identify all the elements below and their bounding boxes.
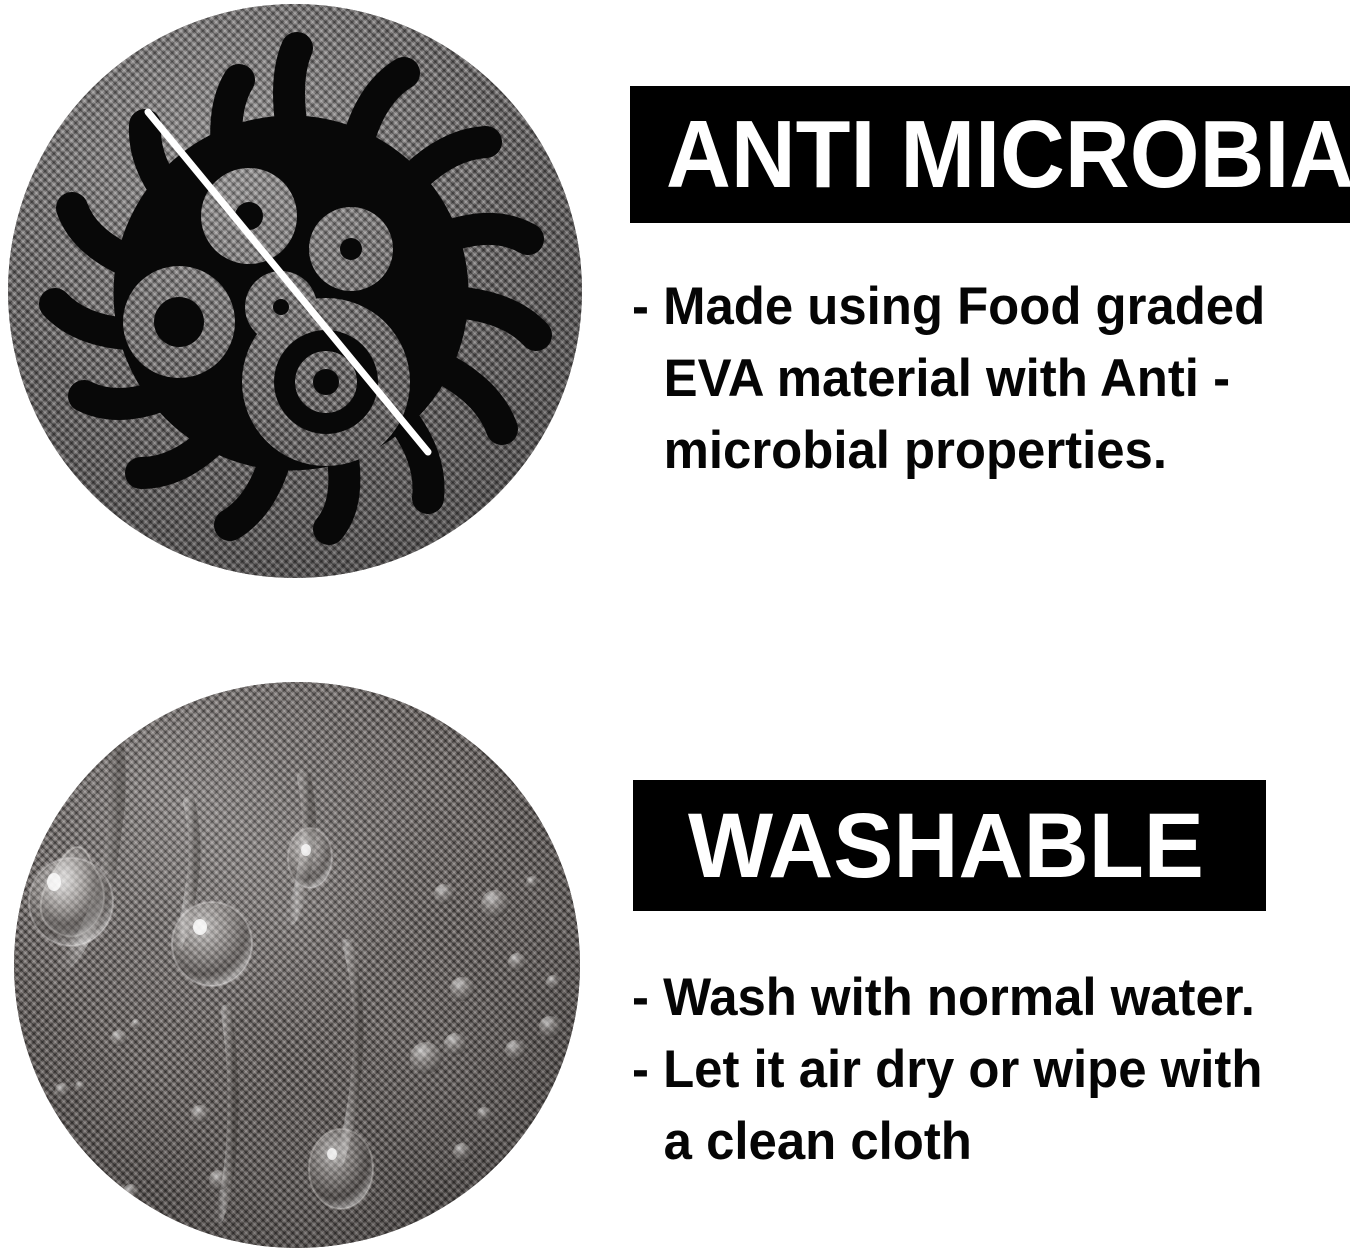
microbe-icon bbox=[8, 4, 582, 578]
body-line: - Let it air dry or wipe with bbox=[632, 1034, 1262, 1106]
body-line: - Wash with normal water. bbox=[632, 962, 1262, 1034]
body-line: a clean cloth bbox=[632, 1106, 1262, 1178]
body-text-washable: - Wash with normal water. - Let it air d… bbox=[632, 962, 1289, 1178]
infographic-canvas: ANTI MICROBIAL - Made using Food graded … bbox=[0, 0, 1364, 1244]
water-droplets-overlay bbox=[14, 682, 580, 1248]
headline-anti-microbial: ANTI MICROBIAL bbox=[666, 107, 1364, 203]
body-line: microbial properties. bbox=[632, 415, 1265, 487]
body-line: EVA material with Anti - bbox=[632, 343, 1265, 415]
washable-photo bbox=[14, 682, 580, 1248]
anti-microbial-photo bbox=[8, 4, 582, 578]
headline-bar-washable: WASHABLE bbox=[633, 780, 1266, 911]
headline-washable: WASHABLE bbox=[688, 800, 1204, 892]
headline-bar-anti-microbial: ANTI MICROBIAL bbox=[630, 86, 1350, 223]
body-text-anti-microbial: - Made using Food graded EVA material wi… bbox=[632, 271, 1292, 487]
body-line: - Made using Food graded bbox=[632, 271, 1265, 343]
